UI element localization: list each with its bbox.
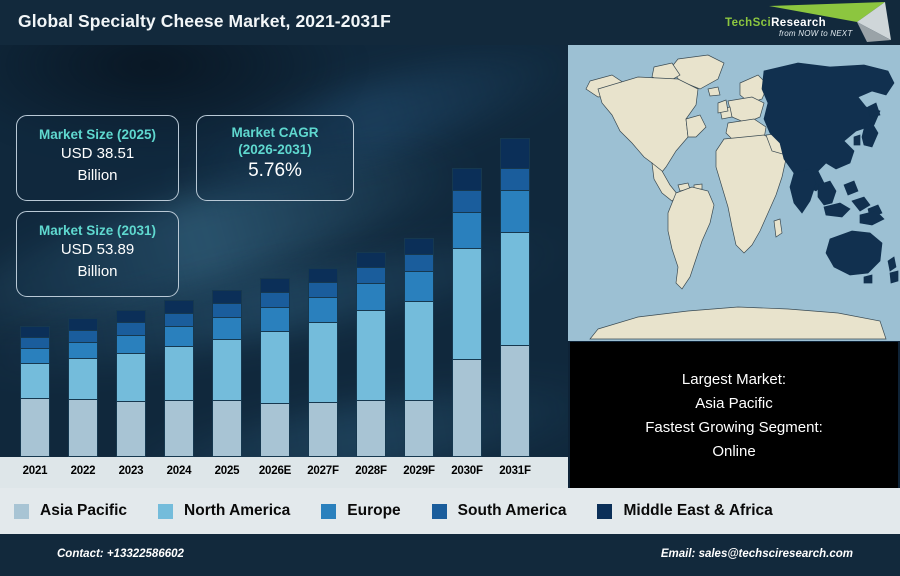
footer-bar: Contact: +13322586602 Email: sales@techs… bbox=[0, 534, 900, 576]
logo-text-research: Research bbox=[771, 17, 826, 29]
stat-card-heading: Market Size (2031) bbox=[17, 222, 178, 239]
x-axis-label: 2027F bbox=[299, 465, 347, 477]
bar-segment bbox=[308, 282, 338, 297]
bar-2030F bbox=[452, 168, 482, 457]
bar-segment bbox=[116, 335, 146, 353]
legend-label: South America bbox=[458, 502, 567, 520]
stat-card-value: USD 53.89 bbox=[17, 239, 178, 261]
bar-segment bbox=[116, 322, 146, 335]
bar-segment bbox=[116, 353, 146, 401]
x-axis-label: 2031F bbox=[491, 465, 539, 477]
bar-2025 bbox=[212, 290, 242, 457]
bar-segment bbox=[452, 190, 482, 212]
infographic-page: Global Specialty Cheese Market, 2021-203… bbox=[0, 0, 900, 576]
fastest-segment-label: Fastest Growing Segment: bbox=[645, 416, 823, 439]
bar-segment bbox=[452, 248, 482, 359]
stat-card-unit: Billion bbox=[17, 165, 178, 187]
techsci-logo[interactable]: TechSciResearch from NOW to NEXT bbox=[717, 0, 900, 45]
bar-segment bbox=[404, 301, 434, 400]
x-axis-label: 2029F bbox=[395, 465, 443, 477]
x-axis-label: 2024 bbox=[155, 465, 203, 477]
legend-swatch bbox=[597, 504, 612, 519]
largest-market-label: Largest Market: bbox=[682, 368, 786, 391]
legend-swatch bbox=[158, 504, 173, 519]
bar-segment bbox=[356, 400, 386, 457]
legend-item[interactable]: Asia Pacific bbox=[14, 502, 127, 520]
bar-segment bbox=[164, 346, 194, 400]
logo-tagline: from NOW to NEXT bbox=[779, 29, 852, 38]
bar-segment bbox=[68, 399, 98, 457]
bar-segment bbox=[308, 297, 338, 322]
largest-market-value: Asia Pacific bbox=[695, 392, 773, 415]
bar-segment bbox=[500, 138, 530, 168]
bar-segment bbox=[20, 363, 50, 398]
bar-segment bbox=[164, 400, 194, 457]
world-map bbox=[568, 45, 900, 341]
bar-segment bbox=[212, 317, 242, 339]
legend-item[interactable]: South America bbox=[432, 502, 567, 520]
bar-segment bbox=[260, 278, 290, 292]
x-axis-label: 2025 bbox=[203, 465, 251, 477]
legend-item[interactable]: Middle East & Africa bbox=[597, 502, 772, 520]
bar-segment bbox=[404, 400, 434, 457]
bar-segment bbox=[212, 339, 242, 400]
bar-segment bbox=[212, 290, 242, 303]
legend-label: North America bbox=[184, 502, 290, 520]
legend-label: Europe bbox=[347, 502, 400, 520]
bar-segment bbox=[164, 326, 194, 346]
market-highlights-box: Largest Market: Asia Pacific Fastest Gro… bbox=[570, 342, 898, 488]
bar-segment bbox=[68, 358, 98, 399]
bar-segment bbox=[116, 310, 146, 322]
bar-2026E bbox=[260, 278, 290, 457]
legend-swatch bbox=[14, 504, 29, 519]
bar-segment bbox=[68, 318, 98, 330]
stat-card-heading: Market Size (2025) bbox=[17, 126, 178, 143]
stat-card-value: USD 38.51 bbox=[17, 143, 178, 165]
bar-segment bbox=[116, 401, 146, 457]
x-axis-label: 2021 bbox=[11, 465, 59, 477]
stat-card-subheading: (2026-2031) bbox=[197, 141, 353, 158]
bar-2028F bbox=[356, 252, 386, 457]
bar-2024 bbox=[164, 300, 194, 457]
bar-segment bbox=[308, 322, 338, 402]
x-axis-label: 2023 bbox=[107, 465, 155, 477]
logo-wordmark: TechSciResearch bbox=[725, 17, 826, 29]
bar-segment bbox=[68, 330, 98, 342]
x-axis-label: 2028F bbox=[347, 465, 395, 477]
legend-swatch bbox=[432, 504, 447, 519]
bar-segment bbox=[212, 400, 242, 457]
bar-segment bbox=[308, 268, 338, 282]
bar-segment bbox=[20, 348, 50, 363]
bar-2022 bbox=[68, 318, 98, 457]
bar-segment bbox=[20, 337, 50, 348]
bar-segment bbox=[404, 254, 434, 271]
x-axis-label: 2022 bbox=[59, 465, 107, 477]
bar-segment bbox=[452, 168, 482, 190]
bar-segment bbox=[260, 403, 290, 457]
legend-label: Middle East & Africa bbox=[623, 502, 772, 520]
bar-segment bbox=[164, 300, 194, 313]
legend-item[interactable]: North America bbox=[158, 502, 290, 520]
bar-segment bbox=[500, 190, 530, 232]
bar-segment bbox=[260, 292, 290, 307]
legend-label: Asia Pacific bbox=[40, 502, 127, 520]
bar-segment bbox=[20, 326, 50, 337]
bar-segment bbox=[164, 313, 194, 326]
bar-segment bbox=[500, 232, 530, 345]
bar-2023 bbox=[116, 310, 146, 457]
legend-swatch bbox=[321, 504, 336, 519]
bar-segment bbox=[452, 359, 482, 457]
bar-segment bbox=[356, 252, 386, 267]
x-axis: 202120222023202420252026E2027F2028F2029F… bbox=[0, 457, 568, 488]
bar-segment bbox=[404, 238, 434, 254]
stat-card-heading: Market CAGR bbox=[197, 124, 353, 141]
bar-segment bbox=[212, 303, 242, 317]
bar-segment bbox=[500, 168, 530, 190]
footer-email: Email: sales@techsciresearch.com bbox=[661, 548, 853, 560]
bar-2027F bbox=[308, 268, 338, 457]
x-axis-label: 2030F bbox=[443, 465, 491, 477]
header-bar: Global Specialty Cheese Market, 2021-203… bbox=[0, 0, 900, 45]
bar-segment bbox=[20, 398, 50, 457]
chart-legend: Asia PacificNorth AmericaEuropeSouth Ame… bbox=[0, 488, 900, 534]
bar-segment bbox=[260, 331, 290, 403]
bar-2021 bbox=[20, 326, 50, 457]
bar-segment bbox=[308, 402, 338, 457]
bar-segment bbox=[356, 267, 386, 283]
stat-card-market-size-2031: Market Size (2031) USD 53.89 Billion bbox=[16, 211, 179, 297]
bar-segment bbox=[260, 307, 290, 331]
bar-segment bbox=[356, 283, 386, 310]
legend-item[interactable]: Europe bbox=[321, 502, 400, 520]
bar-2031F bbox=[500, 138, 530, 457]
footer-contact: Contact: +13322586602 bbox=[57, 548, 184, 560]
bar-2029F bbox=[404, 238, 434, 457]
bar-segment bbox=[452, 212, 482, 248]
page-title: Global Specialty Cheese Market, 2021-203… bbox=[18, 11, 391, 32]
stat-card-unit: Billion bbox=[17, 261, 178, 283]
x-axis-label: 2026E bbox=[251, 465, 299, 477]
bar-segment bbox=[500, 345, 530, 457]
bar-segment bbox=[356, 310, 386, 400]
world-map-svg bbox=[568, 45, 900, 341]
stat-card-market-cagr: Market CAGR (2026-2031) 5.76% bbox=[196, 115, 354, 201]
chart-area: Market Size (2025) USD 38.51 Billion Mar… bbox=[0, 45, 568, 488]
fastest-segment-value: Online bbox=[712, 440, 755, 463]
bar-segment bbox=[68, 342, 98, 358]
stat-card-value: 5.76% bbox=[197, 158, 353, 184]
bar-segment bbox=[404, 271, 434, 301]
stat-card-market-size-2025: Market Size (2025) USD 38.51 Billion bbox=[16, 115, 179, 201]
logo-text-techsci: TechSci bbox=[725, 17, 771, 29]
